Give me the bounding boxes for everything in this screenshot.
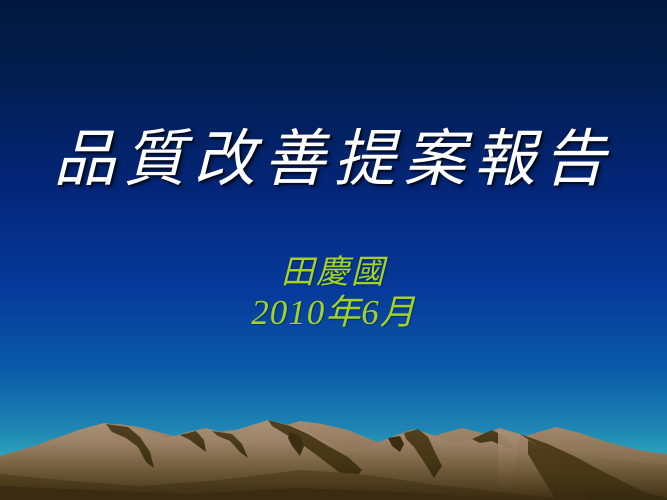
- mountain-landscape-illustration: [0, 0, 667, 500]
- author-name: 田慶國: [0, 254, 667, 293]
- subtitle-block: 田慶國 2010年6月: [0, 254, 667, 333]
- presentation-date: 2010年6月: [0, 293, 667, 333]
- title-block: 品質改善提案報告: [0, 128, 667, 193]
- page-title: 品質改善提案報告: [53, 128, 613, 193]
- title-slide: 品質改善提案報告 田慶國 2010年6月: [0, 0, 667, 500]
